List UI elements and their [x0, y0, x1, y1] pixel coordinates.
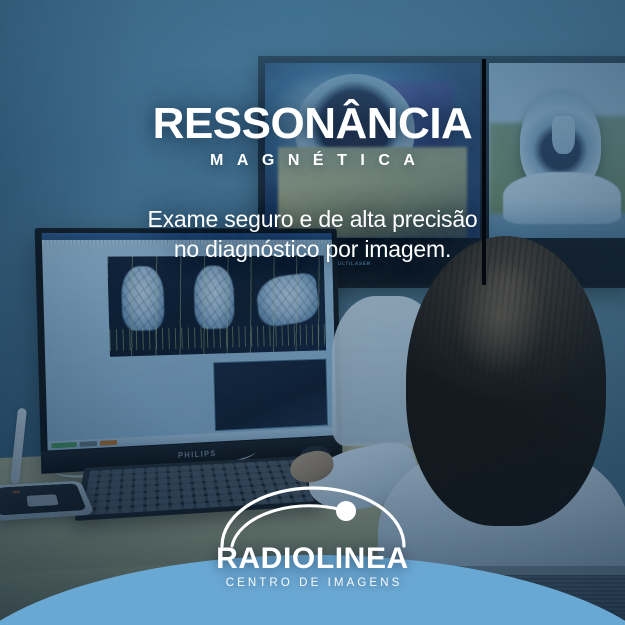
brand-logo: RADIOLINEA CENTRO DE IMAGENS [183, 486, 443, 590]
poster-canvas: R01 4J00 04 03 59 MULTILASER MULTILASER [0, 0, 625, 625]
brand-tagline: CENTRO DE IMAGENS [183, 578, 443, 590]
brand-name: RADIOLINEA [183, 544, 443, 574]
tagline-line-1: Exame seguro e de alta precisão [0, 204, 625, 234]
tagline: Exame seguro e de alta precisão no diagn… [0, 204, 625, 265]
headline-secondary: MAGNÉTICA [0, 153, 625, 169]
headline-block: RESSONÂNCIA MAGNÉTICA [0, 102, 625, 169]
tagline-line-2: no diagnóstico por imagem. [0, 234, 625, 264]
headline-primary: RESSONÂNCIA [0, 102, 625, 146]
text-overlay: RESSONÂNCIA MAGNÉTICA Exame seguro e de … [0, 0, 625, 625]
arc-with-dot-icon [218, 486, 408, 548]
wall-monitor-divider [482, 59, 486, 285]
